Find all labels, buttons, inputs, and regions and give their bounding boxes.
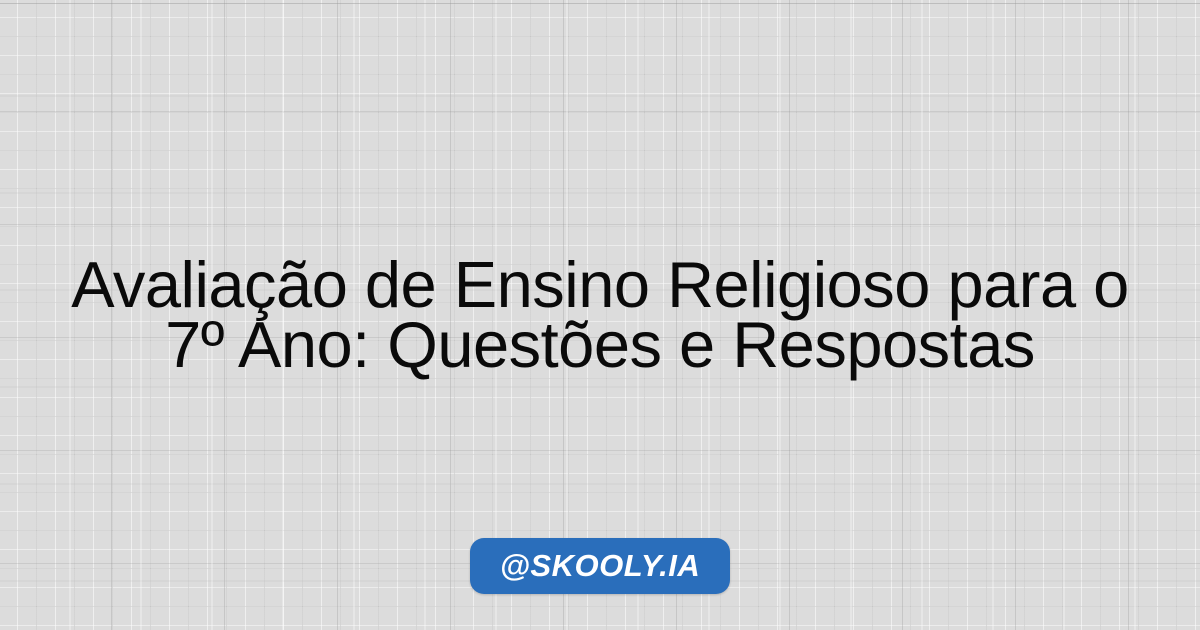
top-divider-line xyxy=(0,3,1200,4)
brand-handle-badge[interactable]: @SKOOLY.IA xyxy=(470,538,731,594)
badge-container: @SKOOLY.IA xyxy=(0,538,1200,594)
page-title: Avaliação de Ensino Religioso para o 7º … xyxy=(35,255,1165,375)
title-block: Avaliação de Ensino Religioso para o 7º … xyxy=(35,255,1165,375)
og-image-card: Avaliação de Ensino Religioso para o 7º … xyxy=(0,0,1200,630)
